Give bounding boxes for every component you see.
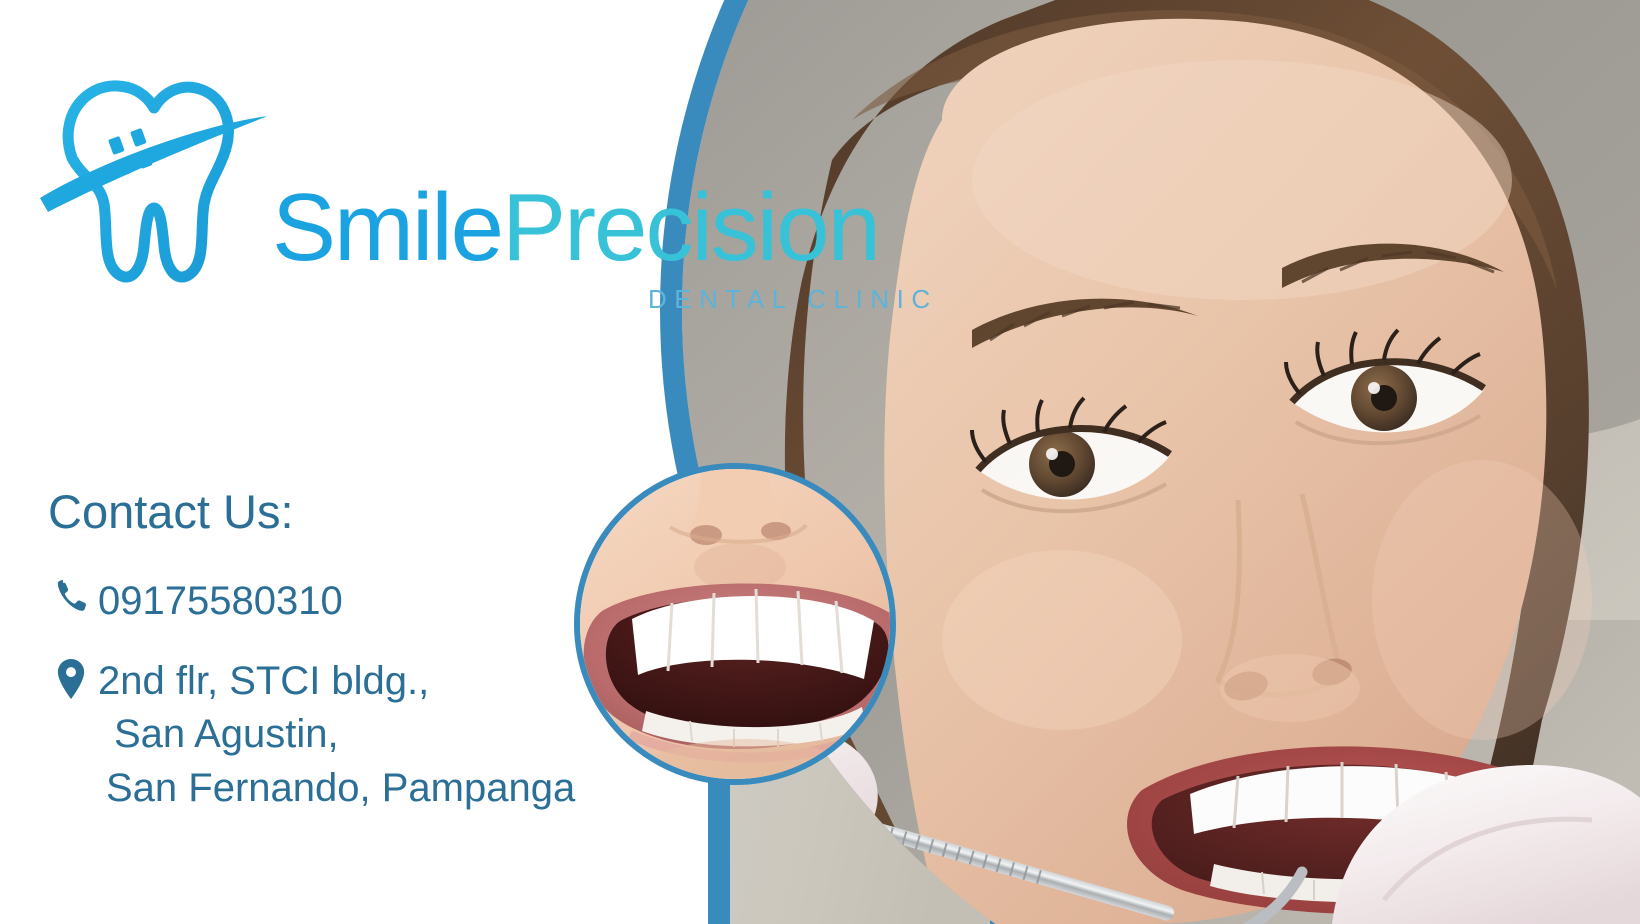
- address-line-3: San Fernando, Pampanga: [98, 762, 575, 816]
- brand-name-smile: Smile: [272, 174, 502, 281]
- brand-name-precision: Precision: [502, 174, 879, 281]
- contact-phone-row[interactable]: 09175580310: [44, 575, 664, 629]
- contact-address-row[interactable]: 2nd flr, STCI bldg., San Agustin, San Fe…: [44, 655, 664, 816]
- address-line-2: San Agustin,: [98, 708, 575, 762]
- poster-canvas: SmilePrecision DENTAL CLINIC Contact Us:…: [0, 0, 1640, 924]
- contact-block: Contact Us: 09175580310 2nd flr, STCI bl…: [44, 484, 664, 841]
- phone-number[interactable]: 09175580310: [98, 575, 343, 629]
- phone-icon: [44, 575, 98, 615]
- address-line-1: 2nd flr, STCI bldg.,: [98, 659, 429, 703]
- brand-logo: SmilePrecision DENTAL CLINIC: [36, 62, 896, 312]
- location-pin-icon: [44, 655, 98, 699]
- brand-tagline: DENTAL CLINIC: [648, 284, 938, 315]
- brand-wordmark: SmilePrecision: [272, 180, 879, 276]
- tooth-with-braces-icon: [36, 62, 266, 292]
- address-text[interactable]: 2nd flr, STCI bldg., San Agustin, San Fe…: [98, 655, 575, 816]
- contact-heading: Contact Us:: [48, 484, 664, 539]
